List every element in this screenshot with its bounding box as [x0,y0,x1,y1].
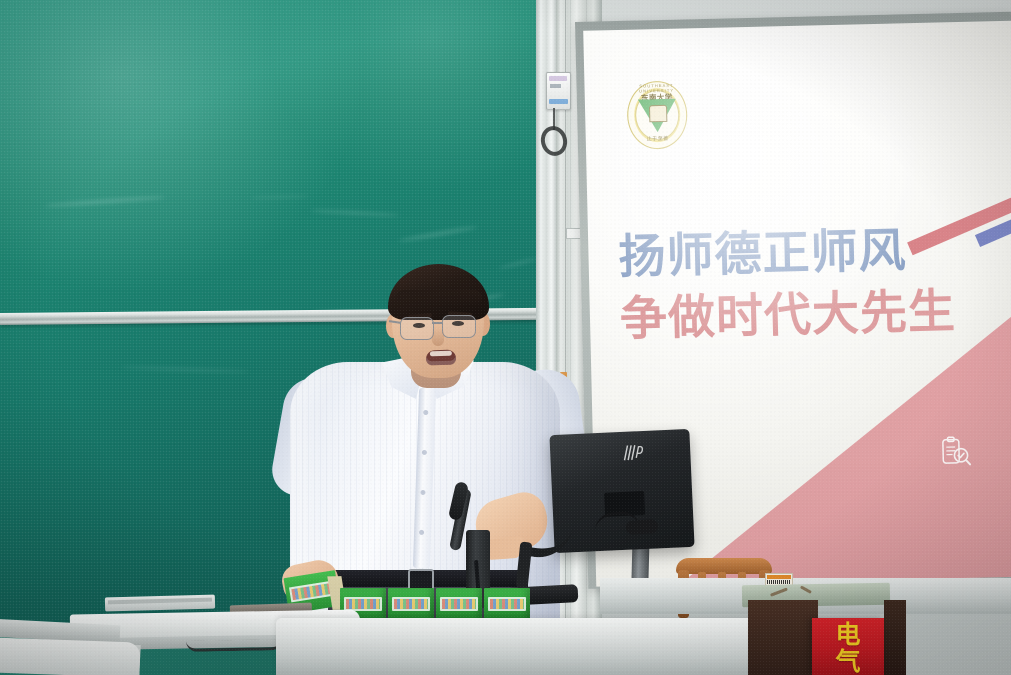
lens-right [442,315,476,338]
slide-headline-line1: 扬师德正师风 [618,221,999,286]
sticker-barcode [767,580,791,584]
slide-headline: 扬师德正师风 争做时代大先生 [618,221,1001,349]
dark-cabinet [748,600,818,675]
hp-logo-icon [622,443,645,464]
hp-monitor-rear [549,429,694,553]
slide-headline-line2: 争做时代大先生 [619,283,1000,348]
shirt-button [419,530,424,535]
red-box-char-2: 气 [812,648,884,675]
chalk-smudge [120,366,250,374]
chalk-smudge [45,196,165,207]
red-equipment-box: 电 气 [812,618,884,675]
southeast-university-seal: SOUTHEAST UNIVERSITY 东南大学 止于至善 [626,80,688,149]
cabinet-scuff [770,588,788,597]
hair [388,264,489,320]
chalk-smudge [310,210,400,217]
chalk-smudge [498,257,538,270]
glasses-bridge [432,322,443,324]
shirt-button [423,410,428,415]
wall-control-box[interactable] [546,72,571,110]
shirt-button [420,490,425,495]
desk-metal-tray [105,595,215,612]
cabinet-right-side [884,600,906,675]
white-podium-desk [276,618,796,675]
green-carton[interactable] [436,588,482,620]
mouth-speaking [426,349,457,365]
carton-label [440,597,478,611]
nose [432,328,444,346]
sticker-orange-band [767,575,791,579]
red-box-char-1: 电 [812,621,884,648]
seal-motto: 止于至善 [628,134,688,142]
carton-label [392,597,430,611]
seal-building-glyph [649,105,667,122]
photo-scene: SOUTHEAST UNIVERSITY 东南大学 止于至善 扬师德正师风 争做… [0,0,1011,675]
control-box-text [550,84,561,88]
lens-left [400,317,434,340]
green-carton[interactable] [388,588,434,620]
monitor-cable-clip [626,519,659,535]
green-carton[interactable] [484,588,530,620]
lower-platform [0,637,141,675]
cabinet-scuff [800,585,812,593]
control-box-badge [549,99,568,104]
carton-label [488,597,526,611]
chalk-smudge [250,195,310,199]
control-box-label [549,76,567,81]
shirt-button [422,450,427,455]
chalk-smudge [398,225,477,243]
finger [486,547,521,560]
clipboard-check-magnifier-icon [941,435,972,469]
desk-cable [186,639,282,652]
tray-inner [108,598,212,605]
